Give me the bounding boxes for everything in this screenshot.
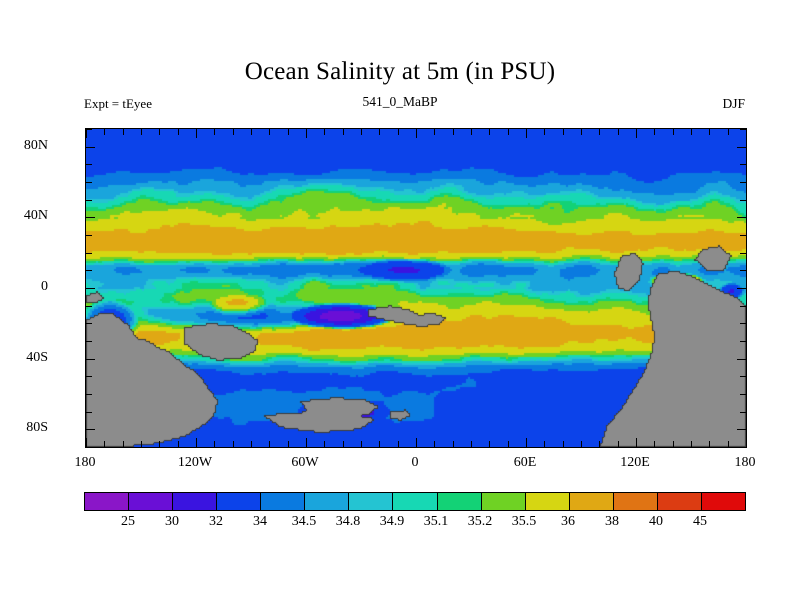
y-tick (740, 376, 746, 377)
x-tick (251, 129, 252, 135)
x-tick (416, 438, 417, 447)
y-tick (86, 306, 92, 307)
y-axis-label: 0 (41, 279, 48, 295)
x-tick (288, 129, 289, 135)
colorbar-band (526, 493, 570, 510)
x-tick (269, 129, 270, 135)
colorbar-band (658, 493, 702, 510)
y-tick (737, 217, 746, 218)
x-tick (618, 129, 619, 135)
x-tick (471, 129, 472, 135)
colorbar-band (349, 493, 393, 510)
x-tick (453, 129, 454, 135)
x-tick (563, 441, 564, 447)
x-tick (343, 441, 344, 447)
x-tick (434, 129, 435, 135)
colorbar-band (482, 493, 526, 510)
y-axis-label: 80N (24, 138, 48, 154)
x-tick (746, 129, 747, 138)
y-tick (86, 429, 95, 430)
x-tick (636, 129, 637, 138)
colorbar-tick-label: 35.2 (468, 514, 493, 530)
x-tick (709, 129, 710, 135)
x-tick (379, 129, 380, 135)
x-tick (728, 129, 729, 135)
x-tick (636, 438, 637, 447)
x-tick (526, 129, 527, 138)
colorbar-tick-label: 34.5 (292, 514, 317, 530)
x-tick (141, 441, 142, 447)
x-tick (544, 129, 545, 135)
y-tick (86, 164, 92, 165)
x-tick (214, 441, 215, 447)
x-tick (416, 129, 417, 138)
x-tick (233, 129, 234, 135)
x-tick (471, 441, 472, 447)
x-tick (398, 129, 399, 135)
x-tick (288, 441, 289, 447)
page-title: Ocean Salinity at 5m (in PSU) (0, 58, 800, 86)
colorbar-tick-label: 35.5 (512, 514, 537, 530)
x-tick (618, 441, 619, 447)
y-tick (740, 200, 746, 201)
y-tick (86, 359, 95, 360)
colorbar-tick-label: 40 (649, 514, 663, 530)
x-tick (141, 129, 142, 135)
x-axis-label: 180 (75, 455, 96, 471)
y-tick (86, 341, 92, 342)
map-plot-area (85, 128, 747, 448)
y-tick (86, 323, 92, 324)
colorbar (84, 492, 746, 511)
y-tick (740, 306, 746, 307)
x-tick (324, 441, 325, 447)
y-tick (740, 270, 746, 271)
x-tick (691, 129, 692, 135)
y-tick (740, 164, 746, 165)
x-tick (104, 441, 105, 447)
y-tick (737, 429, 746, 430)
x-tick (728, 441, 729, 447)
x-tick (196, 129, 197, 138)
y-tick (86, 217, 95, 218)
colorbar-band (305, 493, 349, 510)
salinity-map-canvas (86, 129, 746, 447)
colorbar-band (614, 493, 658, 510)
y-tick (86, 412, 92, 413)
y-tick (740, 235, 746, 236)
x-tick (599, 129, 600, 135)
y-tick (86, 270, 92, 271)
x-tick (489, 129, 490, 135)
y-tick (740, 341, 746, 342)
x-tick (746, 438, 747, 447)
colorbar-band (702, 493, 745, 510)
y-tick (737, 147, 746, 148)
colorbar-band (570, 493, 614, 510)
x-tick (654, 129, 655, 135)
y-tick (737, 359, 746, 360)
x-tick (104, 129, 105, 135)
colorbar-band (173, 493, 217, 510)
x-tick (361, 129, 362, 135)
colorbar-tick-label: 35.1 (424, 514, 449, 530)
x-axis-label: 0 (412, 455, 419, 471)
x-tick (123, 129, 124, 135)
x-tick (178, 441, 179, 447)
x-tick (673, 129, 674, 135)
x-tick (544, 441, 545, 447)
x-axis-label: 120W (178, 455, 212, 471)
y-tick (86, 376, 92, 377)
colorbar-tick-label: 34.9 (380, 514, 405, 530)
y-tick (86, 200, 92, 201)
y-tick (740, 182, 746, 183)
salinity-figure: Ocean Salinity at 5m (in PSU) 541_0_MaBP… (0, 0, 800, 600)
x-tick (214, 129, 215, 135)
y-tick (737, 288, 746, 289)
x-tick (673, 441, 674, 447)
x-tick (508, 129, 509, 135)
x-tick (86, 129, 87, 138)
season-label: DJF (722, 96, 745, 112)
y-tick (86, 447, 92, 448)
x-tick (453, 441, 454, 447)
y-tick (86, 253, 92, 254)
x-tick (123, 441, 124, 447)
colorbar-tick-label: 34.8 (336, 514, 361, 530)
colorbar-tick-label: 45 (693, 514, 707, 530)
x-tick (581, 129, 582, 135)
x-axis-label: 120E (620, 455, 650, 471)
x-tick (434, 441, 435, 447)
x-tick (398, 441, 399, 447)
colorbar-band (438, 493, 482, 510)
y-tick (740, 394, 746, 395)
x-tick (599, 441, 600, 447)
colorbar-tick-label: 36 (561, 514, 575, 530)
y-tick (740, 323, 746, 324)
y-tick (86, 394, 92, 395)
x-tick (526, 438, 527, 447)
x-tick (379, 441, 380, 447)
colorbar-tick-label: 25 (121, 514, 135, 530)
colorbar-tick-label: 32 (209, 514, 223, 530)
y-tick (740, 447, 746, 448)
x-tick (233, 441, 234, 447)
x-tick (581, 441, 582, 447)
y-tick (86, 147, 95, 148)
colorbar-tick-label: 38 (605, 514, 619, 530)
x-tick (489, 441, 490, 447)
colorbar-band (217, 493, 261, 510)
x-tick (306, 438, 307, 447)
x-tick (86, 438, 87, 447)
x-tick (159, 129, 160, 135)
colorbar-band (85, 493, 129, 510)
colorbar-band (129, 493, 173, 510)
x-tick (159, 441, 160, 447)
y-tick (740, 412, 746, 413)
y-tick (86, 288, 95, 289)
y-axis-label: 80S (26, 420, 48, 436)
x-tick (178, 129, 179, 135)
x-tick (306, 129, 307, 138)
x-axis-label: 180 (735, 455, 756, 471)
y-axis-label: 40N (24, 208, 48, 224)
x-tick (361, 441, 362, 447)
colorbar-band (261, 493, 305, 510)
colorbar-tick-label: 30 (165, 514, 179, 530)
x-tick (251, 441, 252, 447)
x-tick (196, 438, 197, 447)
x-tick (343, 129, 344, 135)
x-tick (654, 441, 655, 447)
x-axis-label: 60E (514, 455, 537, 471)
x-tick (691, 441, 692, 447)
x-axis-label: 60W (291, 455, 318, 471)
y-tick (86, 235, 92, 236)
x-tick (508, 441, 509, 447)
y-axis-label: 40S (26, 350, 48, 366)
x-tick (563, 129, 564, 135)
x-tick (269, 441, 270, 447)
experiment-label: Expt = tEyee (84, 96, 152, 112)
y-tick (740, 253, 746, 254)
colorbar-tick-label: 34 (253, 514, 267, 530)
colorbar-band (393, 493, 437, 510)
x-tick (324, 129, 325, 135)
y-tick (86, 182, 92, 183)
x-tick (709, 441, 710, 447)
